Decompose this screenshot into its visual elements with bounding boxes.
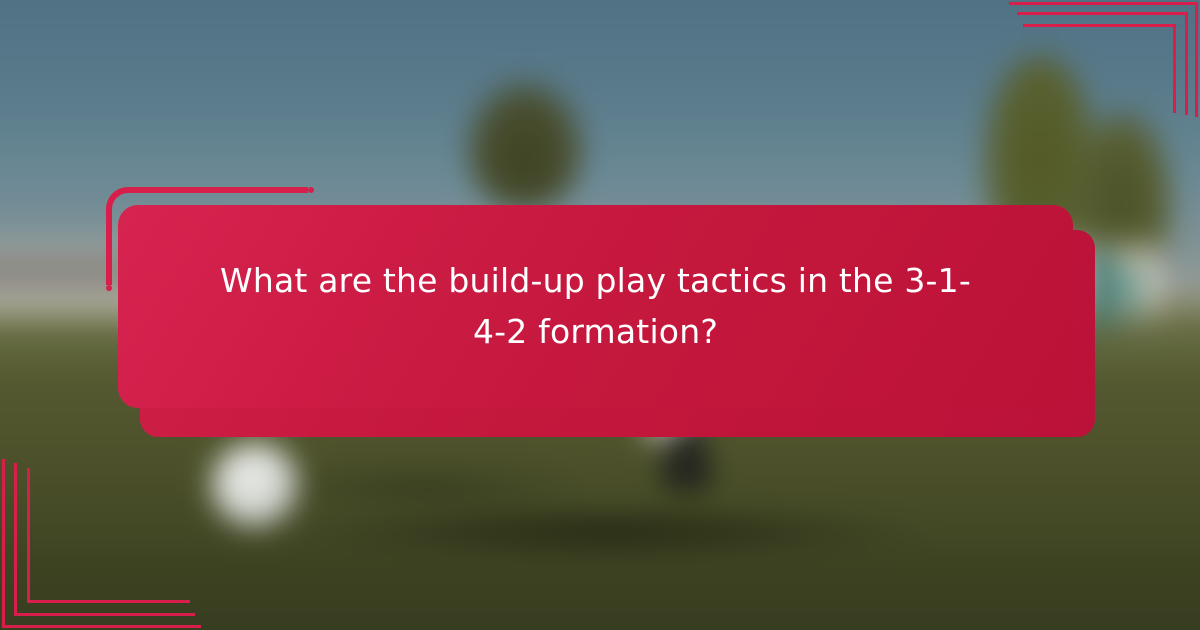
- poster-canvas: What are the build-up play tactics in th…: [0, 0, 1200, 630]
- question-card: What are the build-up play tactics in th…: [118, 205, 1073, 408]
- grass-shadow-lower: [290, 508, 930, 554]
- tree-blob-center: [465, 80, 585, 210]
- question-text: What are the build-up play tactics in th…: [176, 256, 1016, 356]
- grass-shadow-upper: [260, 470, 590, 500]
- player-boot: [658, 460, 716, 490]
- soccer-ball: [212, 443, 298, 527]
- teal-post-secondary: [1115, 260, 1145, 330]
